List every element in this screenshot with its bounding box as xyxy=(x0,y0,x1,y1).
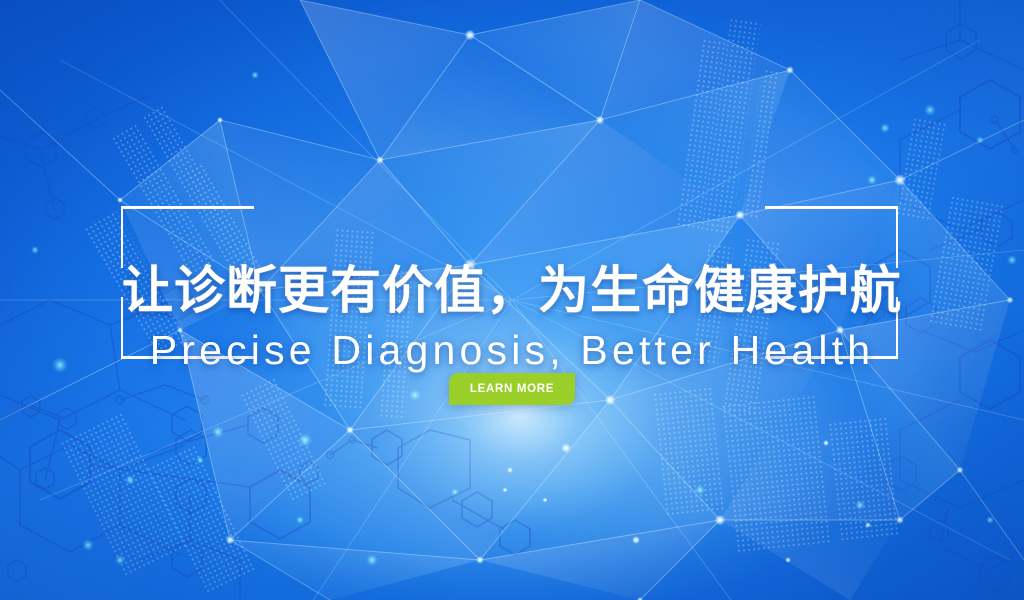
learn-more-button[interactable]: LEARN MORE xyxy=(449,373,575,405)
frame-corner-top-right xyxy=(765,206,898,268)
subheadline-english: Precise Diagnosis, Better Health xyxy=(0,323,1024,377)
hero-banner: 让诊断更有价值，为生命健康护航 Precise Diagnosis, Bette… xyxy=(0,0,1024,600)
banner-content: 让诊断更有价值，为生命健康护航 Precise Diagnosis, Bette… xyxy=(0,0,1024,600)
cta-container: LEARN MORE xyxy=(0,373,1024,405)
headline-chinese: 让诊断更有价值，为生命健康护航 xyxy=(0,260,1024,322)
frame-corner-top-left xyxy=(121,206,254,268)
